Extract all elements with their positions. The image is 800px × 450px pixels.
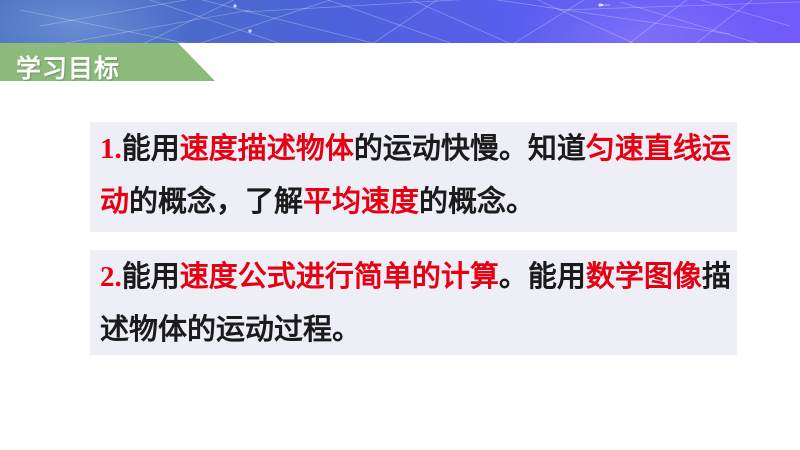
goal-segment-highlight: 数学图像 [586, 261, 702, 293]
goal-segment: 的概念。 [419, 186, 535, 218]
goal-text-1: 1.能用速度描述物体的运动快慢。知道匀速直线运动的概念，了解平均速度的概念。 [90, 122, 737, 229]
goal-segments-1: 能用速度描述物体的运动快慢。知道匀速直线运动的概念，了解平均速度的概念。 [100, 133, 731, 218]
goal-segment: 能用 [122, 261, 180, 293]
goal-segment-highlight: 速度公式进行简单的计算 [180, 261, 499, 293]
goal-segments-2: 能用速度公式进行简单的计算。能用数学图像描述物体的运动过程。 [100, 261, 731, 346]
goal-number-1: 1. [100, 133, 122, 165]
goal-panel-2: 2.能用速度公式进行简单的计算。能用数学图像描述物体的运动过程。 [90, 250, 737, 355]
header-banner [0, 0, 800, 43]
goal-number-2: 2. [100, 261, 122, 293]
goal-segment: 的概念，了解 [129, 186, 303, 218]
network-pattern-icon [0, 0, 800, 43]
goal-segment: 。能用 [499, 261, 586, 293]
goal-segment: 的运动快慢。知道 [354, 133, 586, 165]
goal-segment-highlight: 速度描述物体 [180, 133, 354, 165]
goal-segment: 能用 [122, 133, 180, 165]
goal-panel-1: 1.能用速度描述物体的运动快慢。知道匀速直线运动的概念，了解平均速度的概念。 [90, 122, 737, 232]
goal-text-2: 2.能用速度公式进行简单的计算。能用数学图像描述物体的运动过程。 [90, 250, 737, 357]
section-tab-label: 学习目标 [16, 49, 120, 85]
goal-segment-highlight: 平均速度 [303, 186, 419, 218]
